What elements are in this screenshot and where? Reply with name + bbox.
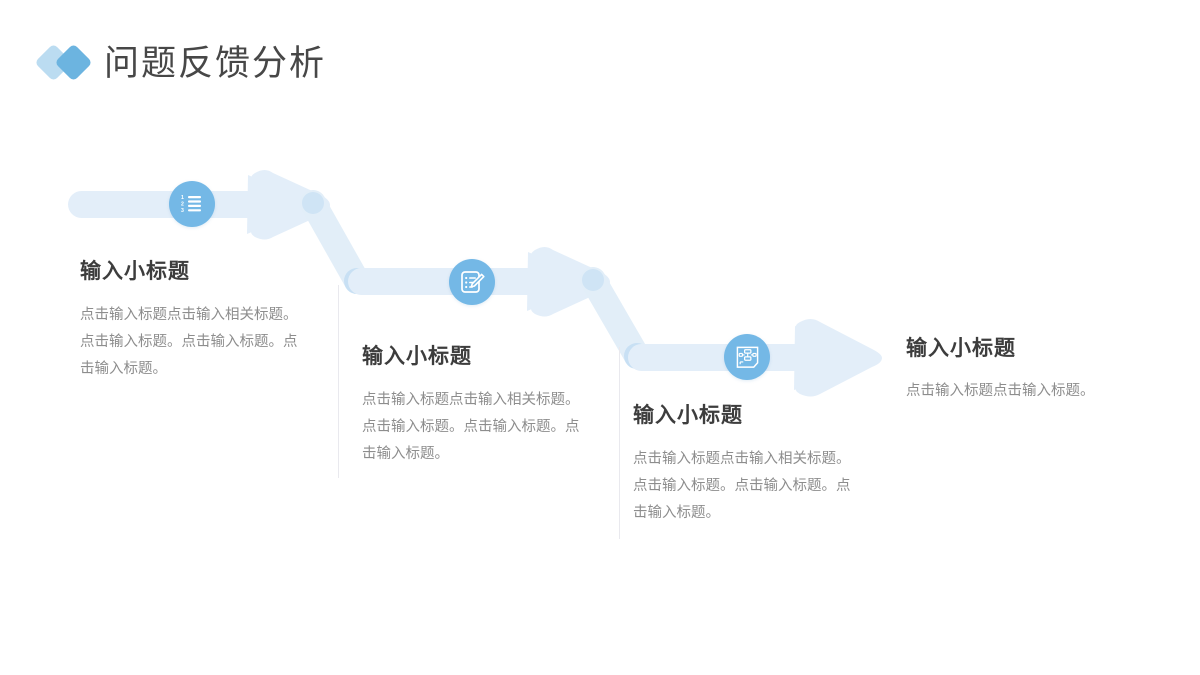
connector-2-to-3 xyxy=(582,269,650,369)
flowchart-icon[interactable] xyxy=(724,334,770,380)
connector-1-to-2 xyxy=(302,192,370,294)
step-body: 点击输入标题点击输入相关标题。点击输入标题。点击输入标题。点击输入标题。 xyxy=(633,446,861,527)
checklist-edit-icon[interactable] xyxy=(449,259,495,305)
step-title: 输入小标题 xyxy=(362,340,590,370)
step-block-3: 输入小标题 点击输入标题点击输入相关标题。点击输入标题。点击输入标题。点击输入标… xyxy=(633,399,861,527)
numbered-list-icon[interactable]: 1 2 3 xyxy=(169,181,215,227)
double-diamond-logo xyxy=(38,43,104,83)
step-body: 点击输入标题点击输入相关标题。点击输入标题。点击输入标题。点击输入标题。 xyxy=(80,302,308,383)
step-block-4: 输入小标题 点击输入标题点击输入标题。 xyxy=(906,332,1156,405)
checklist-edit-glyph xyxy=(459,269,485,295)
step-title: 输入小标题 xyxy=(633,399,861,429)
step-body: 点击输入标题点击输入相关标题。点击输入标题。点击输入标题。点击输入标题。 xyxy=(362,387,590,468)
flowchart-glyph xyxy=(735,345,760,370)
step-block-2: 输入小标题 点击输入标题点击输入相关标题。点击输入标题。点击输入标题。点击输入标… xyxy=(362,340,590,468)
svg-text:3: 3 xyxy=(181,208,184,214)
svg-text:1: 1 xyxy=(181,195,184,201)
step-divider xyxy=(338,285,339,478)
step-title: 输入小标题 xyxy=(906,332,1156,362)
step-block-1: 输入小标题 点击输入标题点击输入相关标题。点击输入标题。点击输入标题。点击输入标… xyxy=(80,255,308,383)
page-title: 问题反馈分析 xyxy=(104,46,326,81)
svg-text:2: 2 xyxy=(181,202,184,208)
page-title-row: 问题反馈分析 xyxy=(38,36,326,90)
step-body: 点击输入标题点击输入标题。 xyxy=(906,378,1156,405)
step-divider xyxy=(619,347,620,539)
numbered-list-glyph: 1 2 3 xyxy=(180,192,204,216)
step-title: 输入小标题 xyxy=(80,255,308,285)
